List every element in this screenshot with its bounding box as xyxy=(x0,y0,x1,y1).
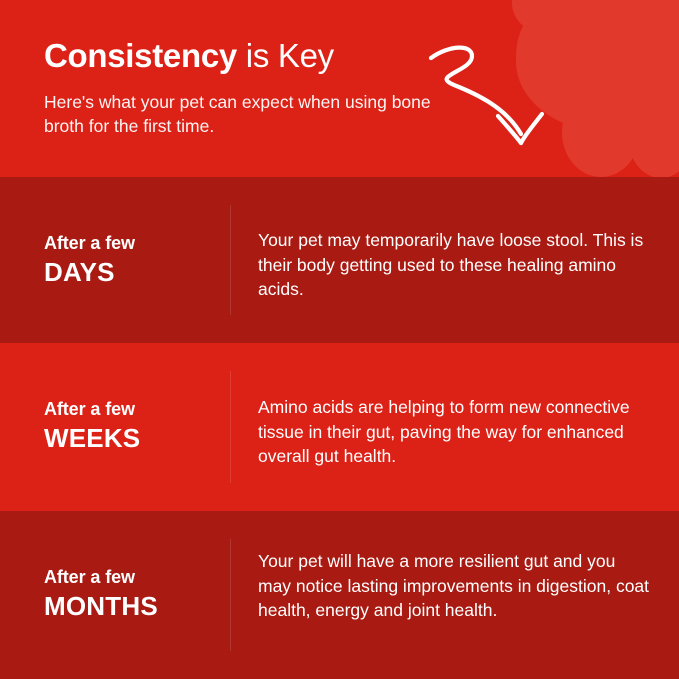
timeline-row-label-prefix: After a few xyxy=(44,566,158,588)
timeline-row-label-prefix: After a few xyxy=(44,398,140,420)
paw-print-toe-shape xyxy=(562,88,640,177)
timeline-row-label: After a few WEEKS xyxy=(44,398,140,454)
infographic-card: Consistency is Key Here's what your pet … xyxy=(0,0,679,679)
page-title-strong: Consistency xyxy=(44,37,237,74)
page-title-light: is Key xyxy=(237,37,334,74)
page-subtitle: Here's what your pet can expect when usi… xyxy=(44,90,434,138)
timeline-row-description: Amino acids are helping to form new conn… xyxy=(258,395,650,469)
timeline-row: After a few WEEKS Amino acids are helpin… xyxy=(0,343,679,511)
timeline-row-label: After a few MONTHS xyxy=(44,566,158,622)
column-divider xyxy=(230,539,231,651)
header-banner: Consistency is Key Here's what your pet … xyxy=(0,0,679,177)
column-divider xyxy=(230,205,231,315)
timeline-row-label-period: WEEKS xyxy=(44,422,140,454)
timeline-row-label: After a few DAYS xyxy=(44,232,135,288)
column-divider xyxy=(230,371,231,483)
timeline-row-description: Your pet will have a more resilient gut … xyxy=(258,549,650,623)
paw-print-toe-shape xyxy=(628,96,679,177)
page-title: Consistency is Key xyxy=(44,36,334,76)
curved-down-arrow-icon xyxy=(425,42,560,147)
timeline-row-label-prefix: After a few xyxy=(44,232,135,254)
timeline-row: After a few MONTHS Your pet will have a … xyxy=(0,511,679,679)
timeline-row-description: Your pet may temporarily have loose stoo… xyxy=(258,228,650,302)
timeline-row-label-period: MONTHS xyxy=(44,590,158,622)
timeline-row-label-period: DAYS xyxy=(44,256,135,288)
paw-print-toe-shape xyxy=(512,0,580,34)
timeline-row: After a few DAYS Your pet may temporaril… xyxy=(0,177,679,343)
